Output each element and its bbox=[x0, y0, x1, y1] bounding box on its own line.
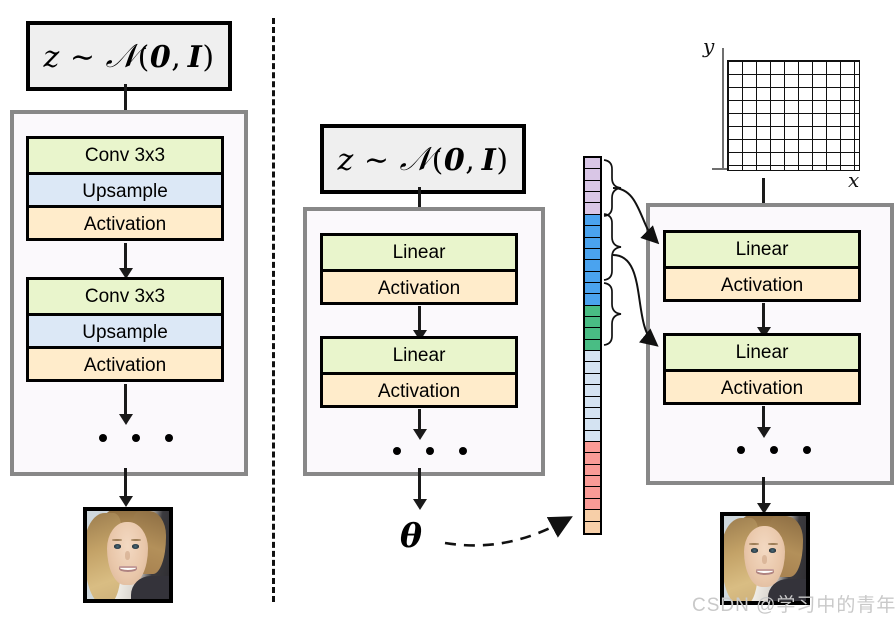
panel-divider bbox=[272, 18, 275, 602]
middle-latent-box: z ∼ 𝒩(0, I) bbox=[320, 124, 526, 194]
left-block-1: Conv 3x3 Upsample Activation bbox=[26, 136, 224, 241]
parameter-cell bbox=[585, 192, 600, 203]
parameter-cell bbox=[585, 226, 600, 237]
parameter-cell bbox=[585, 203, 600, 214]
grid-squares bbox=[727, 60, 860, 171]
middle-container-to-theta-arrow bbox=[418, 468, 421, 501]
layer-linear: Linear bbox=[666, 233, 858, 266]
coordinate-grid-plot: y x bbox=[700, 40, 880, 170]
parameter-cell bbox=[585, 476, 600, 487]
layer-linear: Linear bbox=[323, 339, 515, 372]
parameter-cell bbox=[585, 408, 600, 419]
brace-middle bbox=[604, 214, 621, 280]
parameter-cell bbox=[585, 272, 600, 283]
right-container-to-output-arrow bbox=[762, 477, 765, 505]
parameter-cell bbox=[585, 238, 600, 249]
parameter-cell bbox=[585, 283, 600, 294]
right-ellipsis bbox=[737, 446, 811, 454]
grid-y-axis bbox=[722, 48, 724, 170]
left-ellipsis bbox=[99, 434, 173, 442]
parameter-cell bbox=[585, 442, 600, 453]
middle-block-2: Linear Activation bbox=[320, 336, 518, 408]
middle-block2-to-ellipsis-arrow bbox=[418, 409, 421, 431]
parameter-cell bbox=[585, 215, 600, 226]
parameter-cell bbox=[585, 294, 600, 305]
grid-y-label: y bbox=[703, 34, 714, 58]
parameter-cell bbox=[585, 385, 600, 396]
parameter-cell bbox=[585, 431, 600, 442]
right-block-1: Linear Activation bbox=[663, 230, 861, 302]
middle-ellipsis bbox=[393, 447, 467, 455]
layer-activation: Activation bbox=[666, 266, 858, 299]
parameter-cell bbox=[585, 340, 600, 351]
parameter-cell bbox=[585, 260, 600, 271]
parameter-cell bbox=[585, 169, 600, 180]
layer-activation: Activation bbox=[666, 369, 858, 402]
layer-conv: Conv 3x3 bbox=[29, 280, 221, 313]
left-block1-to-block2-arrow bbox=[124, 243, 127, 270]
csdn-watermark: CSDN @学习中的青年 bbox=[692, 590, 896, 617]
layer-activation: Activation bbox=[29, 205, 221, 238]
parameter-cell bbox=[585, 453, 600, 464]
left-output-face-image bbox=[83, 507, 173, 603]
left-latent-label: z ∼ 𝒩(0, I) bbox=[43, 36, 214, 76]
layer-linear: Linear bbox=[666, 336, 858, 369]
parameter-cell bbox=[585, 158, 600, 169]
parameter-cell bbox=[585, 487, 600, 498]
parameter-cell bbox=[585, 362, 600, 373]
parameter-cell bbox=[585, 419, 600, 430]
grid-x-label: x bbox=[848, 168, 859, 192]
right-block-2: Linear Activation bbox=[663, 333, 861, 405]
left-latent-box: z ∼ 𝒩(0, I) bbox=[26, 21, 232, 91]
parameter-cell bbox=[585, 510, 600, 521]
middle-latent-label: z ∼ 𝒩(0, I) bbox=[337, 139, 508, 179]
parameter-cell bbox=[585, 499, 600, 510]
parameter-cell bbox=[585, 351, 600, 362]
parameter-cell bbox=[585, 181, 600, 192]
brace-bottom bbox=[604, 283, 621, 345]
middle-block-1: Linear Activation bbox=[320, 233, 518, 305]
theta-to-vector-arrow bbox=[445, 520, 566, 545]
layer-upsample: Upsample bbox=[29, 172, 221, 205]
layer-upsample: Upsample bbox=[29, 313, 221, 346]
layer-activation: Activation bbox=[323, 372, 515, 405]
layer-activation: Activation bbox=[29, 346, 221, 379]
parameter-cell bbox=[585, 522, 600, 533]
diagram-canvas: z ∼ 𝒩(0, I) Conv 3x3 Upsample Activation… bbox=[0, 0, 896, 621]
middle-block1-to-block2-arrow bbox=[418, 306, 421, 332]
parameter-cell bbox=[585, 328, 600, 339]
layer-linear: Linear bbox=[323, 236, 515, 269]
theta-symbol: θ bbox=[400, 516, 422, 555]
parameter-cell bbox=[585, 374, 600, 385]
brace-top bbox=[604, 160, 621, 216]
parameter-cell bbox=[585, 465, 600, 476]
parameter-cell bbox=[585, 397, 600, 408]
parameter-cell bbox=[585, 249, 600, 260]
theta-parameter-vector bbox=[583, 156, 602, 535]
parameter-cell bbox=[585, 317, 600, 328]
parameter-cell bbox=[585, 306, 600, 317]
left-container-to-output-arrow bbox=[124, 468, 127, 498]
right-block1-to-block2-arrow bbox=[762, 303, 765, 329]
left-block-2: Conv 3x3 Upsample Activation bbox=[26, 277, 224, 382]
layer-activation: Activation bbox=[323, 269, 515, 302]
right-block2-to-ellipsis-arrow bbox=[762, 406, 765, 429]
left-block2-to-ellipsis-arrow bbox=[124, 384, 127, 416]
layer-conv: Conv 3x3 bbox=[29, 139, 221, 172]
